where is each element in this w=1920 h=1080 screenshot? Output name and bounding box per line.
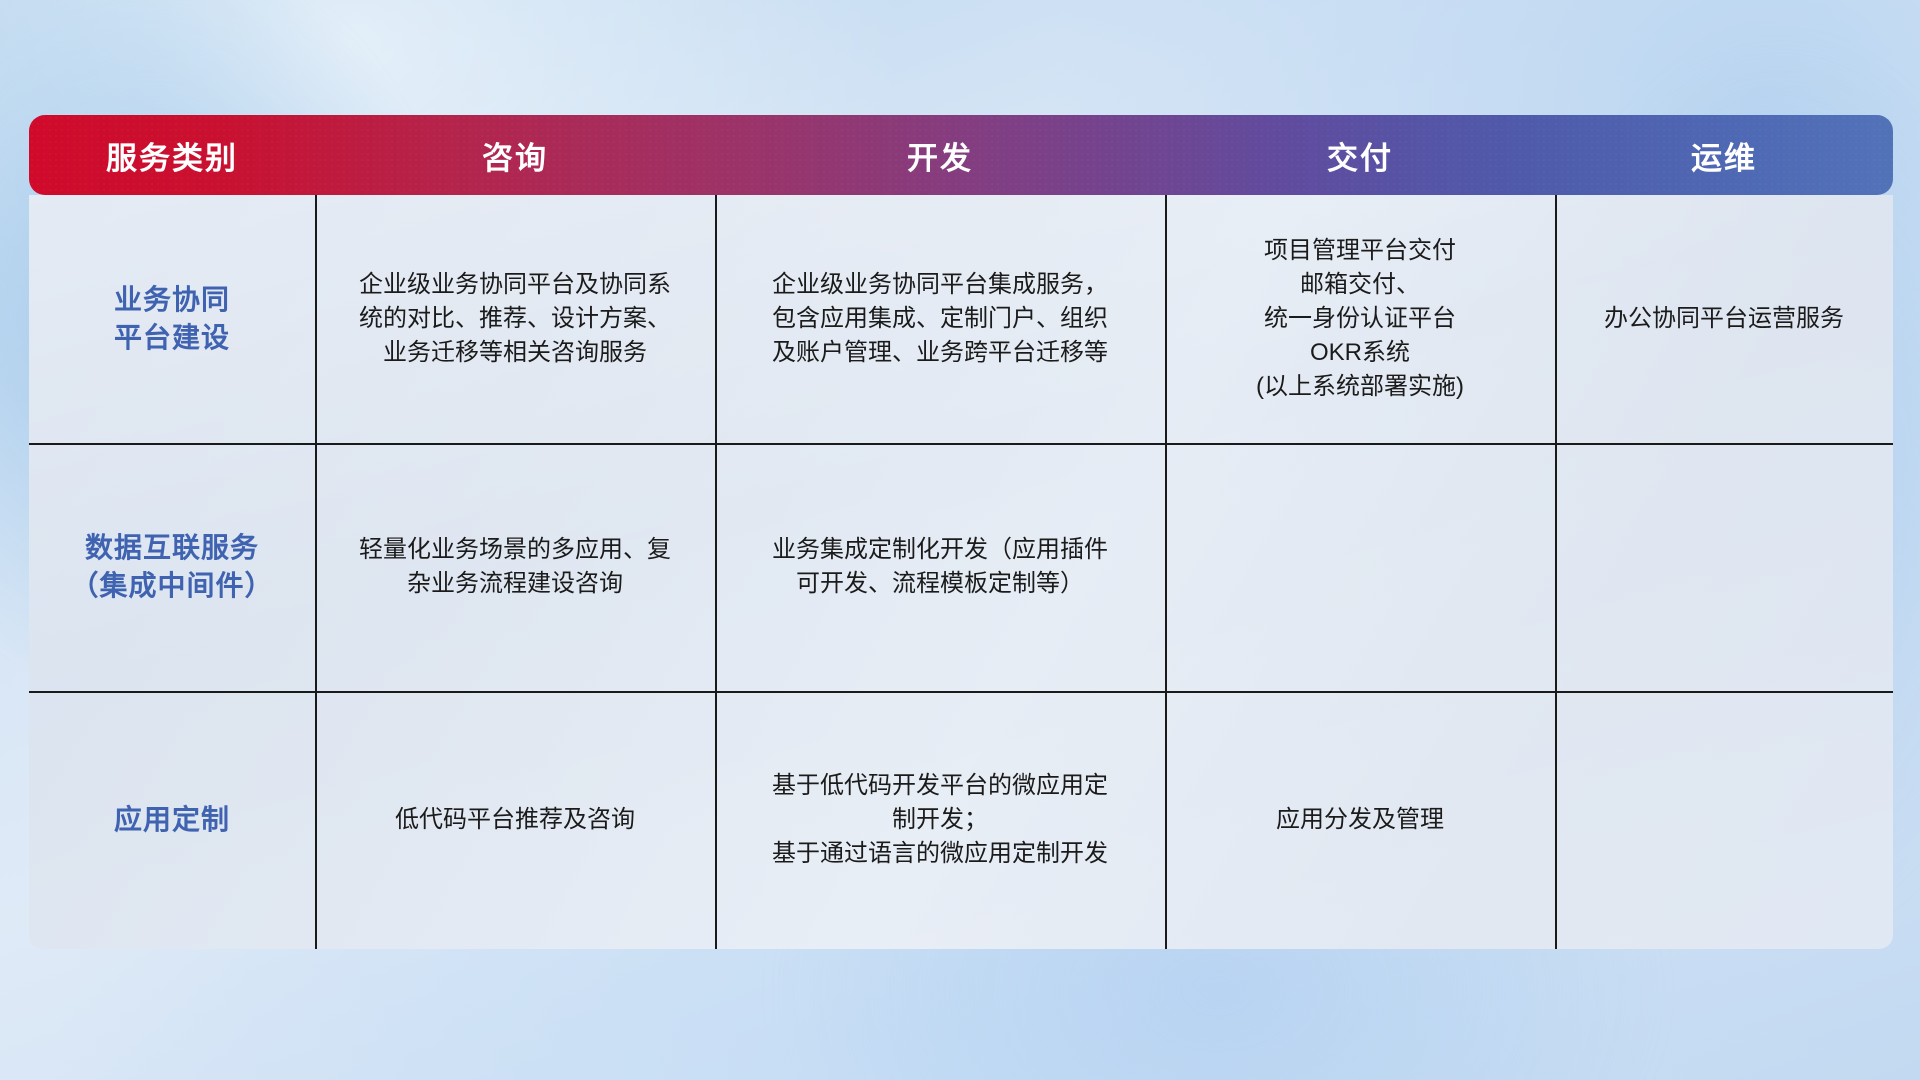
table-row: 数据互联服务 （集成中间件） 轻量化业务场景的多应用、复 杂业务流程建设咨询 业… [29, 443, 1893, 691]
column-header-consulting: 咨询 [315, 115, 715, 195]
cell-development: 基于低代码开发平台的微应用定 制开发； 基于通过语言的微应用定制开发 [715, 691, 1165, 949]
cell-development: 企业级业务协同平台集成服务， 包含应用集成、定制门户、组织 及账户管理、业务跨平… [715, 195, 1165, 443]
table-body: 业务协同 平台建设 企业级业务协同平台及协同系 统的对比、推荐、设计方案、 业务… [29, 195, 1893, 949]
service-matrix-table: 服务类别 咨询 开发 交付 运维 业务协同 平台建设 企业级业务协同平台及协同系… [29, 115, 1893, 949]
column-header-delivery: 交付 [1165, 115, 1555, 195]
cell-consulting: 企业级业务协同平台及协同系 统的对比、推荐、设计方案、 业务迁移等相关咨询服务 [315, 195, 715, 443]
table-row: 业务协同 平台建设 企业级业务协同平台及协同系 统的对比、推荐、设计方案、 业务… [29, 195, 1893, 443]
cell-consulting: 低代码平台推荐及咨询 [315, 691, 715, 949]
cell-delivery: 项目管理平台交付 邮箱交付、 统一身份认证平台 OKR系统 (以上系统部署实施) [1165, 195, 1555, 443]
column-header-operations: 运维 [1555, 115, 1893, 195]
row-category-cell: 业务协同 平台建设 [29, 195, 315, 443]
cell-consulting: 轻量化业务场景的多应用、复 杂业务流程建设咨询 [315, 443, 715, 691]
cell-operations [1555, 443, 1893, 691]
table-header-row: 服务类别 咨询 开发 交付 运维 [29, 115, 1893, 195]
cell-development: 业务集成定制化开发（应用插件 可开发、流程模板定制等） [715, 443, 1165, 691]
column-header-service-category: 服务类别 [29, 115, 315, 195]
row-category-cell: 应用定制 [29, 691, 315, 949]
row-category-label: 业务协同 平台建设 [114, 281, 230, 356]
cell-operations: 办公协同平台运营服务 [1555, 195, 1893, 443]
row-category-label: 应用定制 [114, 801, 230, 839]
cell-delivery [1165, 443, 1555, 691]
table-row: 应用定制 低代码平台推荐及咨询 基于低代码开发平台的微应用定 制开发； 基于通过… [29, 691, 1893, 949]
row-category-label: 数据互联服务 （集成中间件） [70, 529, 273, 604]
row-category-cell: 数据互联服务 （集成中间件） [29, 443, 315, 691]
cell-operations [1555, 691, 1893, 949]
column-header-development: 开发 [715, 115, 1165, 195]
cell-delivery: 应用分发及管理 [1165, 691, 1555, 949]
